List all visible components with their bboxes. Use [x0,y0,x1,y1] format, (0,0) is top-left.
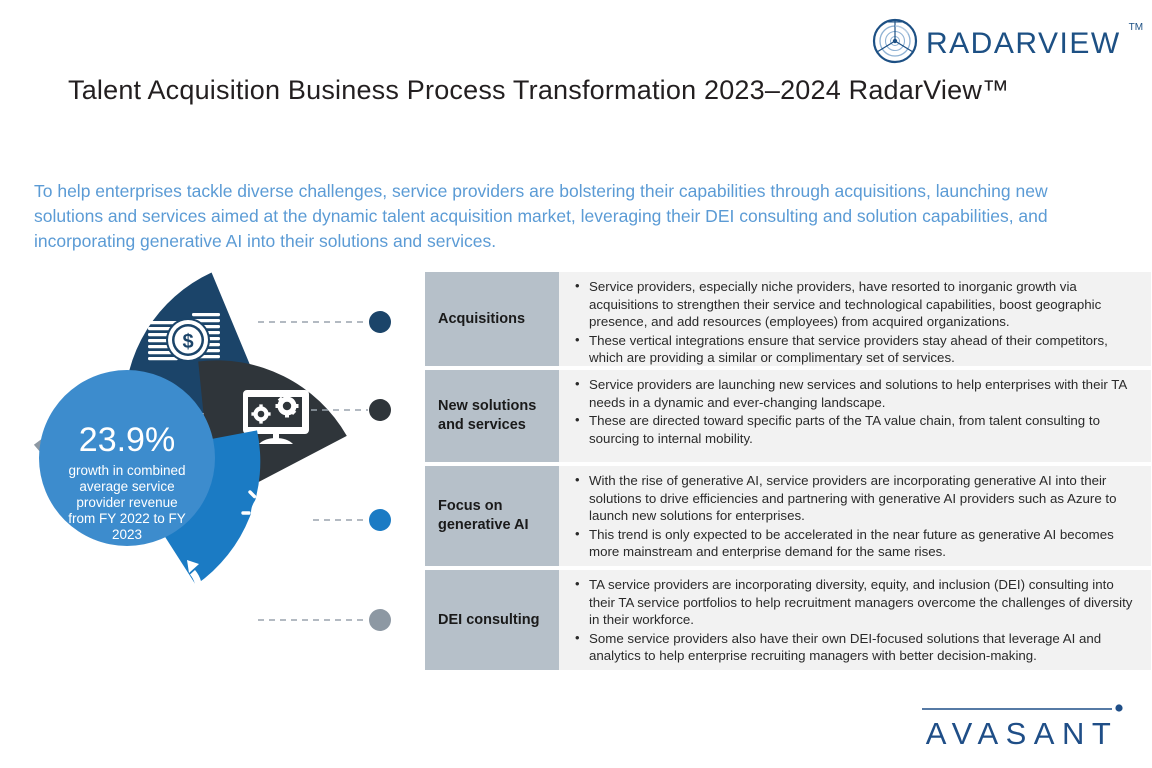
svg-text:provider revenue: provider revenue [76,495,177,510]
segment-row-new-solutions: New solutions and services Service provi… [425,370,1151,462]
bullet-item: These vertical integrations ensure that … [573,332,1139,367]
bullets-new-solutions: Service providers are launching new serv… [559,370,1151,462]
dot-new-solutions [369,399,391,421]
center-metric: 23.9% growth in combined average service… [39,370,215,546]
radarview-logo: RADARVIEW TM [872,18,1143,69]
connector-acquisitions [258,311,391,333]
connector-dei [258,609,391,631]
dot-dei-consulting [369,609,391,631]
bullets-acquisitions: Service providers, especially niche prov… [559,272,1151,366]
segment-row-acquisitions: Acquisitions Service providers, especial… [425,272,1151,366]
svg-text:average service: average service [79,479,174,494]
label-generative-ai[interactable]: Focus on generative AI [425,466,559,566]
bullets-dei-consulting: TA service providers are incorporating d… [559,570,1151,670]
radarview-trademark: TM [1129,22,1143,33]
diversity-people-icon [144,560,202,618]
segment-row-generative-ai: Focus on generative AI With the rise of … [425,466,1151,566]
bullet-item: Service providers are launching new serv… [573,376,1139,411]
bullet-item: Some service providers also have their o… [573,630,1139,665]
dot-acquisitions [369,311,391,333]
svg-text:$: $ [182,331,193,353]
svg-text:2023: 2023 [112,527,142,542]
radarview-wordmark: RADARVIEW [926,27,1121,61]
connector-generative-ai [313,509,391,531]
bullet-item: These are directed toward specific parts… [573,412,1139,447]
radar-target-icon [872,18,918,69]
label-new-solutions[interactable]: New solutions and services [425,370,559,462]
bullets-generative-ai: With the rise of generative AI, service … [559,466,1151,566]
intro-paragraph: To help enterprises tackle diverse chall… [34,179,1109,254]
dot-generative-ai [369,509,391,531]
svg-text:from FY 2022 to FY: from FY 2022 to FY [68,511,186,526]
avasant-logo: AVASANT [916,700,1128,756]
bullet-item: TA service providers are incorporating d… [573,576,1139,629]
segment-row-dei-consulting: DEI consulting TA service providers are … [425,570,1151,670]
bullet-item: With the rise of generative AI, service … [573,472,1139,525]
label-acquisitions[interactable]: Acquisitions [425,272,559,366]
label-dei-consulting[interactable]: DEI consulting [425,570,559,670]
bullet-item: This trend is only expected to be accele… [573,526,1139,561]
infographic: $ [30,268,1130,673]
bullet-item: Service providers, especially niche prov… [573,278,1139,331]
lightbulb-idea-icon [243,484,301,553]
segment-wheel: $ [30,268,450,673]
page-title: Talent Acquisition Business Process Tran… [68,72,1028,108]
avasant-wordmark: AVASANT [916,716,1128,752]
svg-text:growth in combined: growth in combined [68,463,185,478]
center-metric-value: 23.9% [79,421,175,459]
